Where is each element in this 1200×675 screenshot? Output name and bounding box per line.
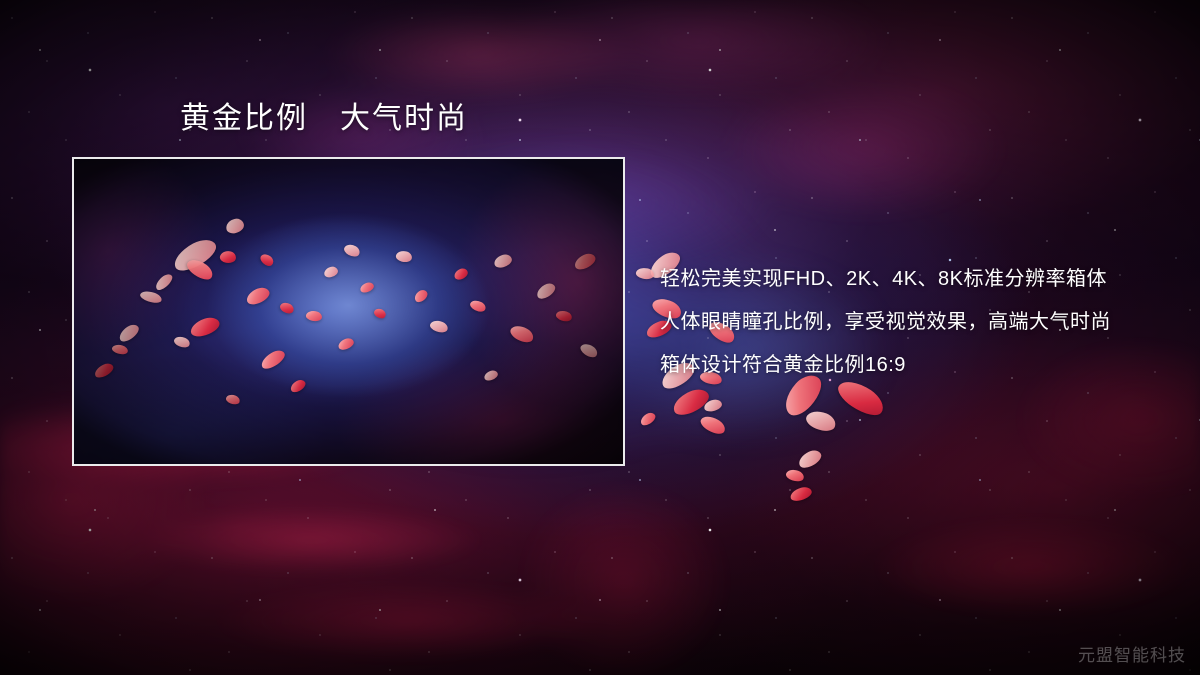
petal	[703, 398, 723, 413]
petal	[698, 412, 728, 437]
petal	[804, 407, 839, 435]
petal	[670, 385, 713, 419]
body-line-2: 人体眼睛瞳孔比例，享受视觉效果，高端大气时尚	[660, 301, 1180, 344]
panel-vignette	[74, 159, 623, 464]
image-panel-frame	[72, 157, 625, 466]
slide-title: 黄金比例 大气时尚	[180, 101, 468, 137]
petal	[635, 266, 655, 281]
company-watermark: 元盟智能科技	[1078, 641, 1186, 666]
petal	[796, 447, 824, 470]
petal	[789, 485, 813, 503]
petal	[639, 411, 658, 428]
presentation-slide: 黄金比例 大气时尚 轻松完美实现FHD、2K、4K、8K标准分辨率箱体 人体眼睛…	[0, 0, 1200, 675]
body-line-3: 箱体设计符合黄金比例16:9	[660, 344, 1180, 387]
body-text-block: 轻松完美实现FHD、2K、4K、8K标准分辨率箱体 人体眼睛瞳孔比例，享受视觉效…	[660, 258, 1180, 387]
body-line-1: 轻松完美实现FHD、2K、4K、8K标准分辨率箱体	[660, 258, 1180, 301]
petal	[785, 467, 806, 483]
